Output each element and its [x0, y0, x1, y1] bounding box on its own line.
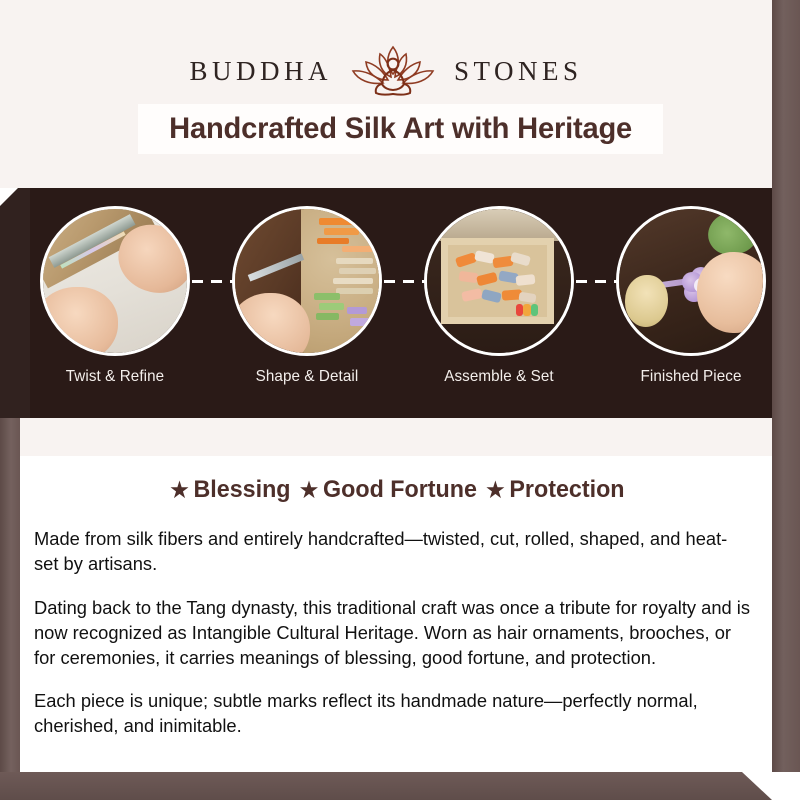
product-infographic: BUDDHA: [0, 0, 800, 800]
benefits-row: ★Blessing ★Good Fortune ★Protection: [31, 476, 760, 504]
step-4-label: Finished Piece: [620, 368, 763, 386]
step-connector-2: [384, 280, 426, 283]
frame-bottom-border: [0, 772, 800, 800]
process-step-1: Twist & Refine: [40, 206, 190, 386]
header-section: BUDDHA: [0, 0, 772, 188]
lotus-meditation-icon: [350, 40, 436, 102]
star-icon-1: ★: [170, 479, 188, 502]
description-paragraph-1: Made from silk fibers and entirely handc…: [34, 526, 751, 576]
brand-logo: BUDDHA: [0, 40, 772, 102]
process-steps: Twist & Refine: [0, 188, 772, 418]
star-icon-3: ★: [486, 479, 504, 502]
description-section: ★Blessing ★Good Fortune ★Protection Made…: [20, 456, 772, 772]
star-icon-2: ★: [300, 479, 318, 502]
frame-right-border: [772, 0, 800, 772]
brand-name-left: BUDDHA: [189, 56, 332, 87]
step-2-image: [232, 206, 382, 356]
benefit-label-2: Good Fortune: [323, 476, 477, 503]
description-paragraphs: Made from silk fibers and entirely handc…: [34, 526, 758, 738]
description-paragraph-2: Dating back to the Tang dynasty, this tr…: [34, 595, 751, 670]
step-4-image: [616, 206, 766, 356]
frame-left-border: [0, 418, 20, 800]
step-connector-1: [192, 280, 234, 283]
step-connector-3: [576, 280, 618, 283]
step-3-image: [424, 206, 574, 356]
step-1-image: [40, 206, 190, 356]
process-step-2: Shape & Detail: [232, 206, 382, 386]
step-1-label: Twist & Refine: [44, 368, 187, 386]
process-step-3: Assemble & Set: [424, 206, 574, 386]
step-3-label: Assemble & Set: [428, 368, 571, 386]
page-title: Handcrafted Silk Art with Heritage: [169, 112, 632, 146]
benefit-label-1: Blessing: [193, 476, 290, 503]
process-steps-band: Twist & Refine: [0, 188, 772, 418]
process-step-4: Finished Piece: [616, 206, 766, 386]
description-paragraph-3: Each piece is unique; subtle marks refle…: [34, 688, 751, 738]
step-2-label: Shape & Detail: [236, 368, 379, 386]
page-title-band: Handcrafted Silk Art with Heritage: [138, 104, 663, 154]
section-divider-strip: [20, 418, 772, 456]
benefit-label-3: Protection: [509, 476, 624, 503]
brand-name-right: STONES: [454, 56, 583, 87]
